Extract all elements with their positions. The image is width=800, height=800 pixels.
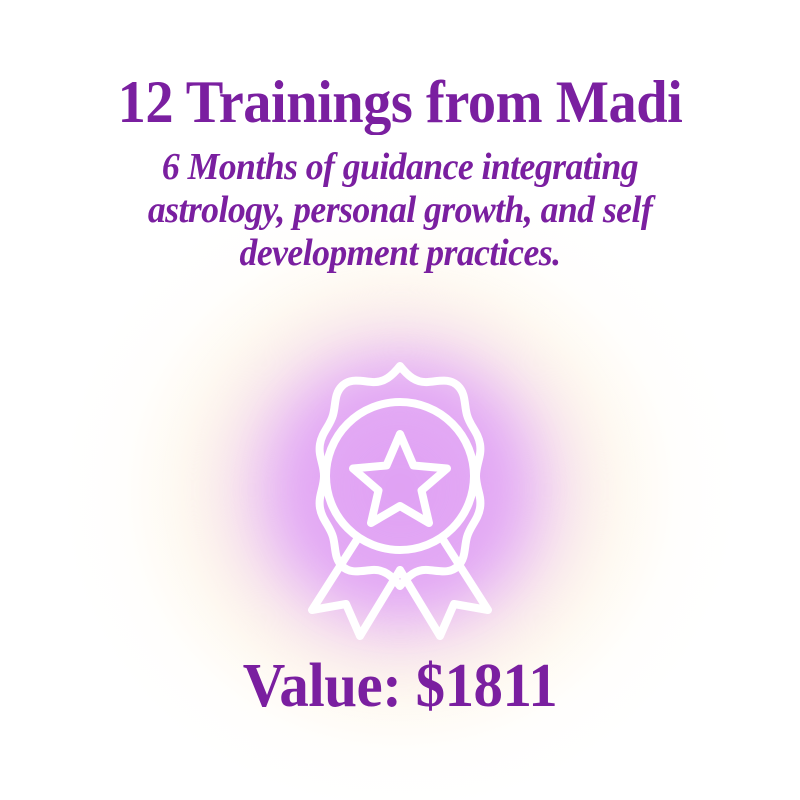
page-title: 12 Trainings from Madi xyxy=(24,0,776,132)
badge-inner-circle xyxy=(326,402,474,550)
page-subtitle: 6 Months of guidance integrating astrolo… xyxy=(24,132,776,275)
value-row: Value: $1811 xyxy=(0,655,800,717)
badge-illustration xyxy=(250,342,550,642)
star-icon xyxy=(353,434,447,523)
award-ribbon-icon xyxy=(250,342,550,642)
value-label: Value: $1811 xyxy=(20,655,780,717)
subtitle-line-3: development practices. xyxy=(24,232,776,275)
subtitle-line-1: 6 Months of guidance integrating xyxy=(24,146,776,189)
subtitle-line-2: astrology, personal growth, and self xyxy=(24,189,776,232)
header-text-block: 12 Trainings from Madi 6 Months of guida… xyxy=(0,0,800,275)
promo-card: 12 Trainings from Madi 6 Months of guida… xyxy=(0,0,800,800)
